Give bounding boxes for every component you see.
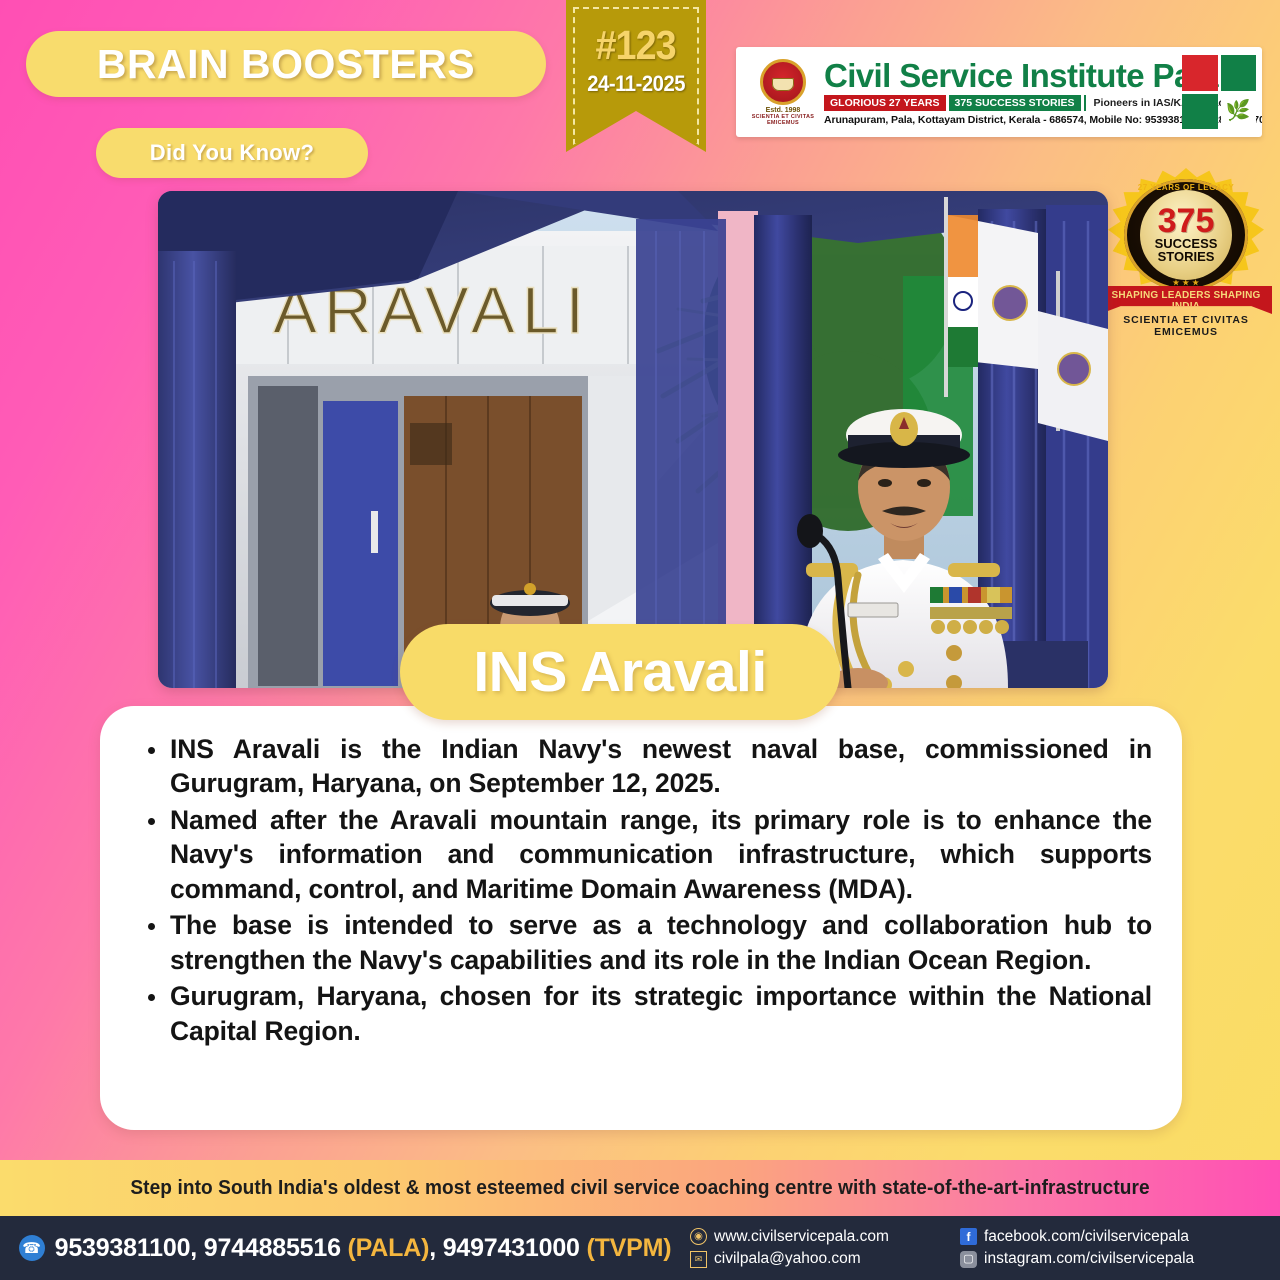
seal-line-1: SUCCESS [1155,237,1218,250]
list-item: Gurugram, Haryana, chosen for its strate… [136,979,1152,1048]
feature-title-text: INS Aravali [473,639,766,705]
poster-canvas: BRAIN BOOSTERS Did You Know? #123 24-11-… [0,0,1280,1280]
seal-center: 375 SUCCESS STORIES [1140,190,1232,280]
phone-tvpm-label: (TVPM) [586,1234,671,1262]
feature-photo: ARAVALI [158,191,1108,688]
list-item: The base is intended to serve as a techn… [136,908,1152,977]
did-you-know-badge: Did You Know? [96,128,368,178]
badge-years: GLORIOUS 27 YEARS [824,95,946,111]
contact-bar: ☎ 9539381100, 9744885516 (PALA), 9497431… [0,1216,1280,1280]
email-address: civilpala@yahoo.com [714,1248,861,1270]
phone-pala-label: (PALA) [348,1234,430,1262]
did-you-know-text: Did You Know? [150,140,314,166]
phone-main: 9539381100, 9744885516 [55,1234,348,1262]
globe-icon: ◉ [690,1228,707,1245]
instagram-row[interactable]: ▢ instagram.com/civilservicepala [960,1248,1280,1270]
phone-mid: , 9497431000 [429,1234,586,1262]
list-item: INS Aravali is the Indian Navy's newest … [136,732,1152,801]
crest-estd-label: Estd. 1998 [744,107,822,114]
phone-numbers[interactable]: 9539381100, 9744885516 (PALA), 949743100… [55,1234,672,1263]
square-green-2 [1182,94,1218,130]
institute-name: Civil Service Institute Pala [824,59,1178,92]
brand-squares-icon: 🌿 [1182,55,1256,129]
phone-block: ☎ 9539381100, 9744885516 (PALA), 9497431… [0,1234,690,1263]
phone-icon: ☎ [19,1235,45,1261]
website-row[interactable]: ◉ www.civilservicepala.com [690,1226,960,1248]
badge-success-stories: 375 SUCCESS STORIES [949,95,1081,111]
issue-date: 24-11-2025 [587,71,685,97]
facebook-row[interactable]: f facebook.com/civilservicepala [960,1226,1280,1248]
instagram-url: instagram.com/civilservicepala [984,1248,1194,1270]
web-block: ◉ www.civilservicepala.com ✉ civilpala@y… [690,1226,960,1271]
facebook-url: facebook.com/civilservicepala [984,1226,1189,1248]
seal-banner: SHAPING LEADERS SHAPING INDIA [1100,286,1272,314]
institute-logo-banner: Estd. 1998 SCIENTIA ET CIVITAS EMICEMUS … [736,47,1262,137]
seal-number: 375 [1158,206,1215,237]
crest-disc-icon [760,59,806,105]
institute-text-block: Civil Service Institute Pala GLORIOUS 27… [822,59,1178,126]
leaf-icon: 🌿 [1221,94,1257,130]
seal-banner-text: SHAPING LEADERS SHAPING INDIA [1100,290,1272,312]
tagline-text: Step into South India's oldest & most es… [130,1176,1149,1200]
square-red [1182,55,1218,91]
square-green-1 [1221,55,1257,91]
envelope-icon: ✉ [690,1251,707,1268]
crest-motto-label: SCIENTIA ET CIVITAS EMICEMUS [744,114,822,126]
list-item: Named after the Aravali mountain range, … [136,803,1152,906]
feature-photo-illustration: ARAVALI [158,191,1108,688]
tagline-banner: Step into South India's oldest & most es… [0,1160,1280,1216]
social-block: f facebook.com/civilservicepala ▢ instag… [960,1226,1280,1271]
institute-badge-row: GLORIOUS 27 YEARS 375 SUCCESS STORIES Pi… [824,95,1178,111]
page-title-text: BRAIN BOOSTERS [97,41,475,88]
seal-line-2: STORIES [1158,250,1215,263]
success-stories-seal: 27 YEARS OF LEGACY TRADITION EXCELLENCE … [1100,168,1272,340]
website-url: www.civilservicepala.com [714,1226,889,1248]
instagram-icon: ▢ [960,1251,977,1268]
institute-address: Arunapuram, Pala, Kottayam District, Ker… [824,114,1178,126]
page-title: BRAIN BOOSTERS [26,31,546,97]
institute-crest-icon: Estd. 1998 SCIENTIA ET CIVITAS EMICEMUS [744,59,822,126]
seal-motto: SCIENTIA ET CIVITAS EMICEMUS [1100,314,1272,338]
facebook-icon: f [960,1228,977,1245]
email-row[interactable]: ✉ civilpala@yahoo.com [690,1248,960,1270]
feature-title-pill: INS Aravali [400,624,840,720]
facts-card: INS Aravali is the Indian Navy's newest … [100,706,1182,1130]
issue-number: #123 [596,22,676,69]
issue-ribbon: #123 24-11-2025 [566,0,706,152]
facts-list: INS Aravali is the Indian Navy's newest … [136,732,1152,1048]
